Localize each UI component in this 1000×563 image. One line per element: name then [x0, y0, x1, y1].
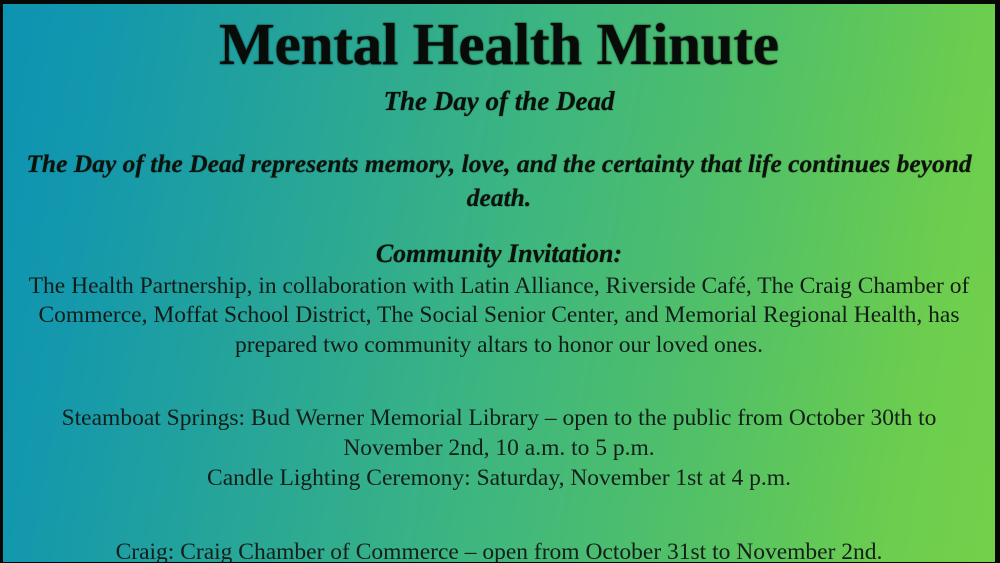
poster-content: Mental Health Minute The Day of the Dead…	[3, 4, 995, 562]
poster-tagline: The Day of the Dead represents memory, l…	[19, 147, 979, 215]
page-title: Mental Health Minute	[219, 14, 779, 74]
venue-ceremony-line: Candle Lighting Ceremony: Saturday, Nove…	[23, 464, 975, 494]
venue-hours-line: Steamboat Springs: Bud Werner Memorial L…	[23, 404, 975, 464]
venue-craig: Craig: Craig Chamber of Commerce – open …	[116, 538, 883, 563]
venue-hours-line: Craig: Craig Chamber of Commerce – open …	[116, 538, 883, 563]
poster-canvas: Mental Health Minute The Day of the Dead…	[0, 0, 1000, 563]
partnership-body-text: The Health Partnership, in collaboration…	[23, 272, 975, 362]
venue-steamboat-springs: Steamboat Springs: Bud Werner Memorial L…	[23, 404, 975, 494]
poster-subtitle: The Day of the Dead	[384, 87, 615, 117]
community-invitation-heading: Community Invitation:	[376, 239, 622, 269]
